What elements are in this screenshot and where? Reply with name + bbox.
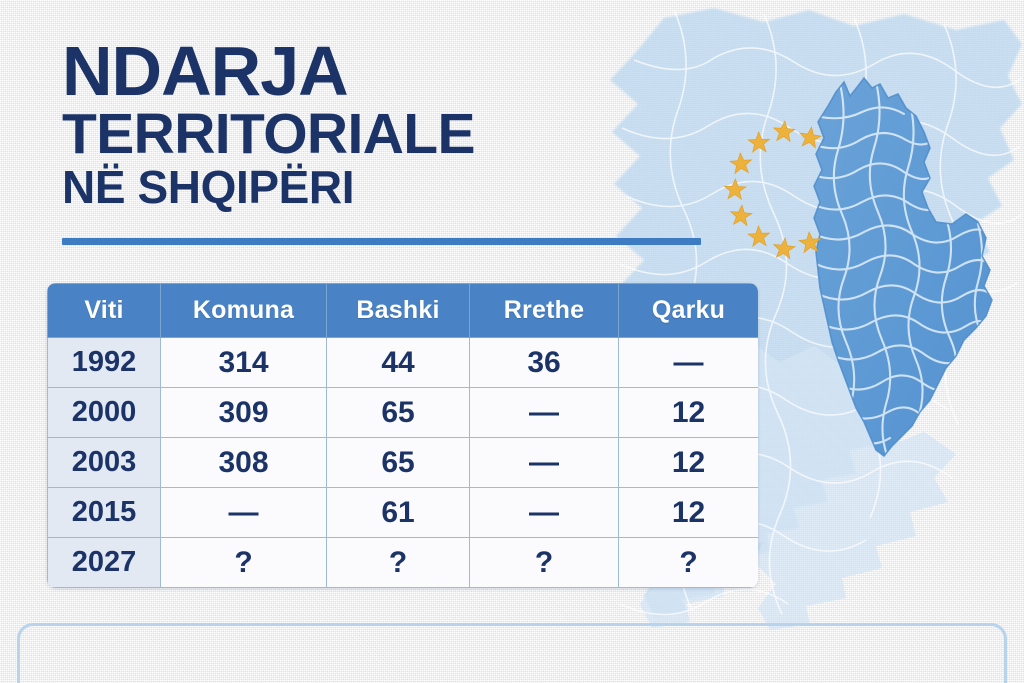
cell-year: 2027 bbox=[48, 538, 161, 588]
column-header-bashki: Bashki bbox=[327, 284, 470, 338]
title-line-3: NË SHQIPËRI bbox=[62, 165, 475, 209]
territorial-division-table: Viti Komuna Bashki Rrethe Qarku 1992 314… bbox=[47, 283, 758, 588]
title-line-1: NDARJA bbox=[62, 38, 475, 105]
cell-qarku: 12 bbox=[619, 488, 759, 538]
cell-komuna: 309 bbox=[161, 388, 327, 438]
data-table: Viti Komuna Bashki Rrethe Qarku 1992 314… bbox=[47, 283, 758, 588]
cell-year: 2003 bbox=[48, 438, 161, 488]
cell-rrethe: 36 bbox=[470, 338, 619, 388]
table-header-row: Viti Komuna Bashki Rrethe Qarku bbox=[48, 284, 759, 338]
table-header: Viti Komuna Bashki Rrethe Qarku bbox=[48, 284, 759, 338]
cell-rrethe: — bbox=[470, 388, 619, 438]
cell-bashki: 44 bbox=[327, 338, 470, 388]
cell-qarku: 12 bbox=[619, 388, 759, 438]
cell-qarku: — bbox=[619, 338, 759, 388]
column-header-rrethe: Rrethe bbox=[470, 284, 619, 338]
column-header-qarku: Qarku bbox=[619, 284, 759, 338]
title-line-2: TERRITORIALE bbox=[62, 107, 475, 162]
cell-qarku: ? bbox=[619, 538, 759, 588]
cell-rrethe: ? bbox=[470, 538, 619, 588]
albania-map-graphic bbox=[806, 74, 1018, 464]
table-row: 2015 — 61 — 12 bbox=[48, 488, 759, 538]
cell-bashki: 61 bbox=[327, 488, 470, 538]
cell-bashki: 65 bbox=[327, 438, 470, 488]
cell-year: 2015 bbox=[48, 488, 161, 538]
column-header-komuna: Komuna bbox=[161, 284, 327, 338]
cell-bashki: 65 bbox=[327, 388, 470, 438]
table-row: 2000 309 65 — 12 bbox=[48, 388, 759, 438]
table-row: 1992 314 44 36 — bbox=[48, 338, 759, 388]
cell-rrethe: — bbox=[470, 488, 619, 538]
page-title: NDARJA TERRITORIALE NË SHQIPËRI bbox=[62, 38, 475, 209]
cell-qarku: 12 bbox=[619, 438, 759, 488]
cell-komuna: — bbox=[161, 488, 327, 538]
cell-year: 2000 bbox=[48, 388, 161, 438]
cell-rrethe: — bbox=[470, 438, 619, 488]
cell-bashki: ? bbox=[327, 538, 470, 588]
cell-komuna: 314 bbox=[161, 338, 327, 388]
cell-komuna: 308 bbox=[161, 438, 327, 488]
cell-year: 1992 bbox=[48, 338, 161, 388]
column-header-viti: Viti bbox=[48, 284, 161, 338]
table-row: 2003 308 65 — 12 bbox=[48, 438, 759, 488]
title-underline-rule bbox=[62, 238, 701, 245]
cell-komuna: ? bbox=[161, 538, 327, 588]
bottom-decorative-frame bbox=[17, 623, 1007, 683]
eu-stars-arc-icon bbox=[712, 110, 882, 280]
table-row-highlighted: 2027 ? ? ? ? bbox=[48, 538, 759, 588]
table-body: 1992 314 44 36 — 2000 309 65 — 12 2003 3… bbox=[48, 338, 759, 588]
